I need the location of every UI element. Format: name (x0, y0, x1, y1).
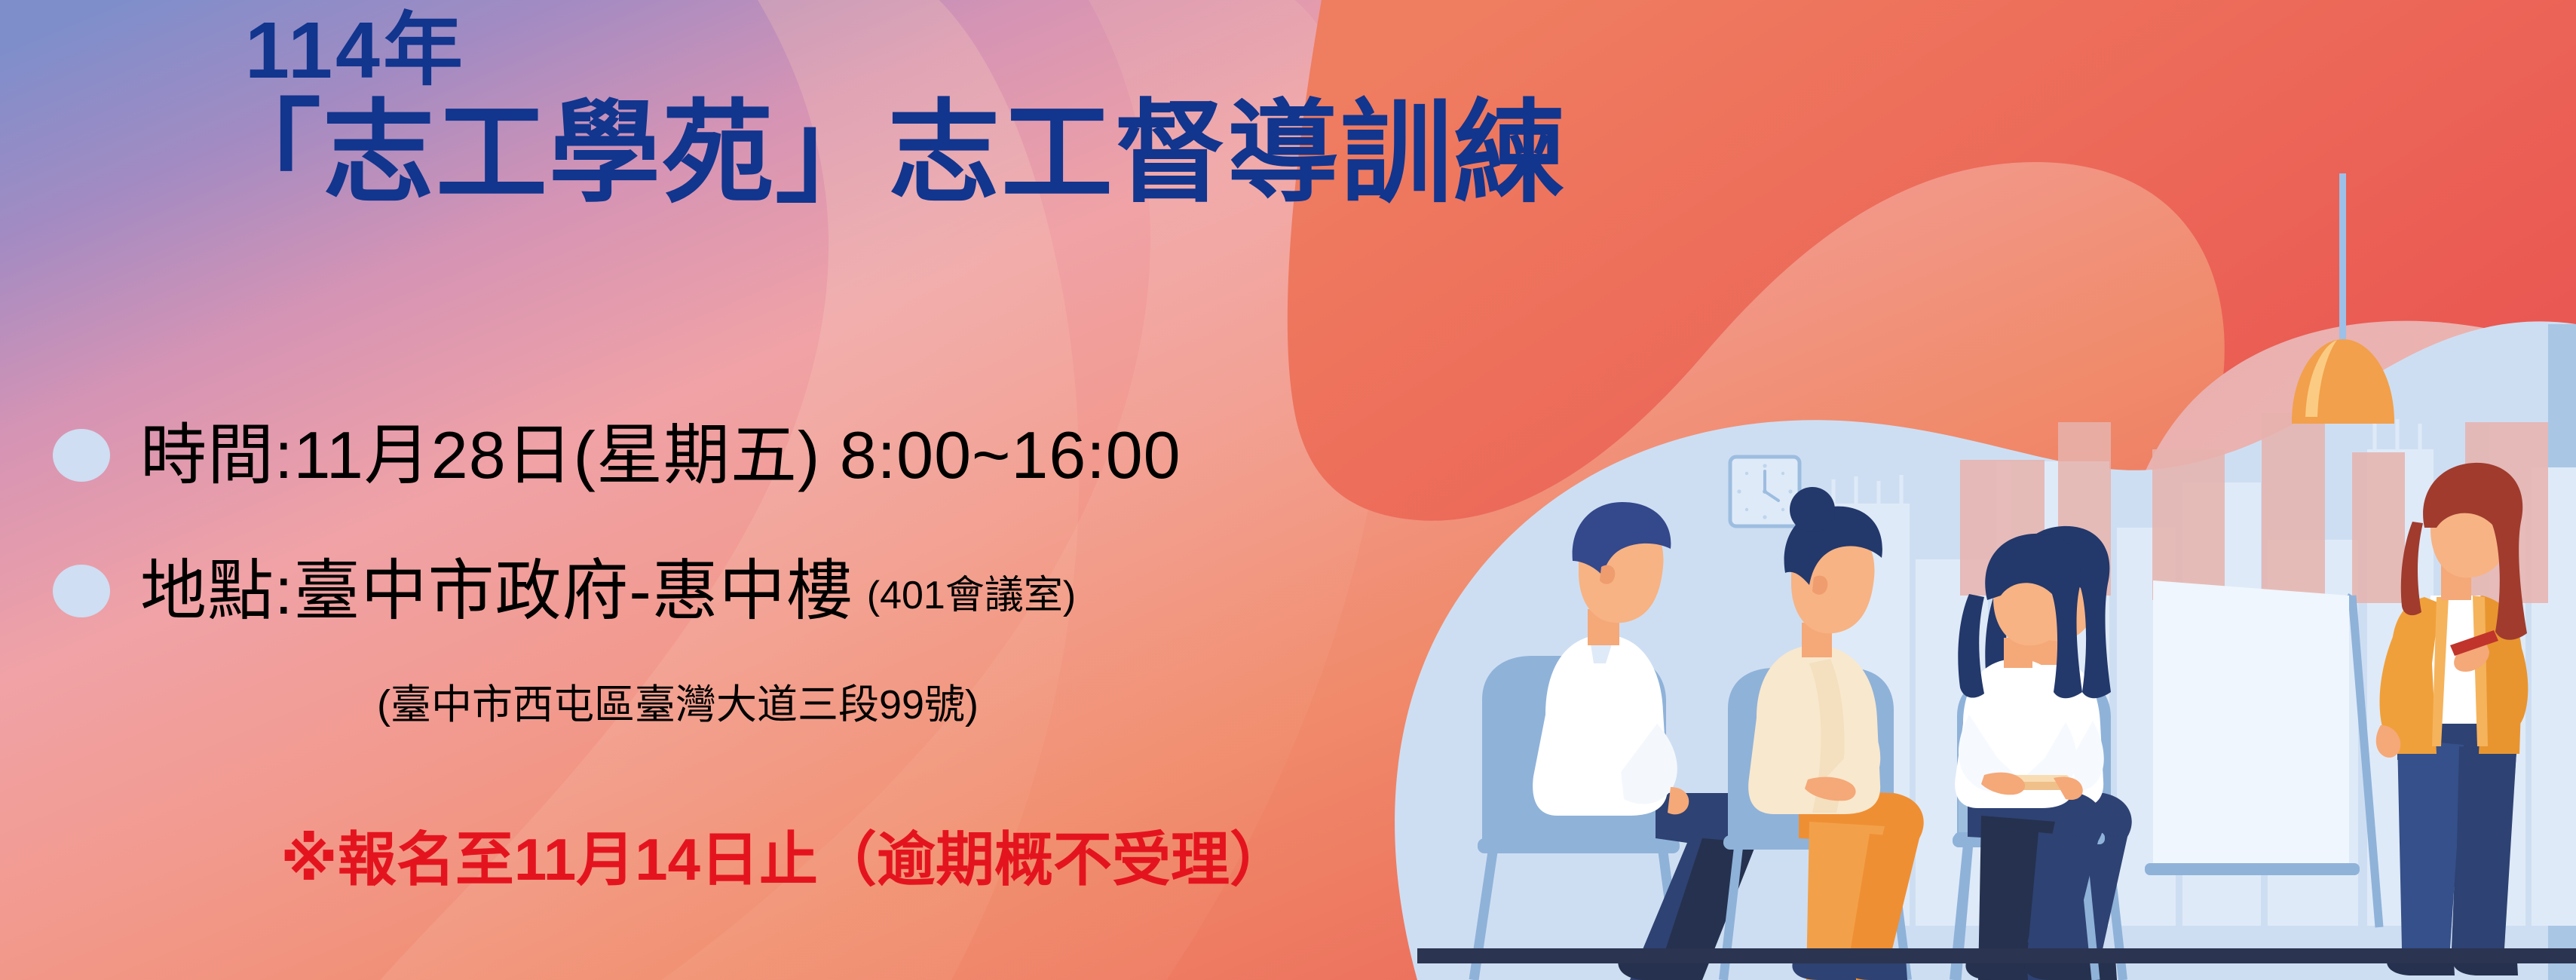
floor-line (1417, 948, 2576, 963)
registration-deadline-notice: ※報名至11月14日止（逾期概不受理） (280, 813, 1288, 897)
info-row-place: 地點:臺中市政府-惠中樓 (401會議室) (53, 558, 1076, 624)
info-place-room: (401會議室) (867, 563, 1076, 620)
wall-clock-icon (1730, 457, 1800, 526)
event-banner: 114年 「志工學苑」志工督導訓練 時間:11月28日(星期五) 8:00~16… (0, 0, 2576, 980)
year-label: 114年 (245, 11, 466, 90)
flipchart-board-icon (2145, 580, 2379, 927)
venue-address: (臺中市西屯區臺灣大道三段99號) (377, 671, 979, 730)
bullet-dot-icon (53, 429, 110, 482)
info-place-label: 地點:臺中市政府-惠中樓 (140, 558, 853, 624)
page-title: 「志工學苑」志工督導訓練 (210, 98, 1567, 210)
info-row-time: 時間:11月28日(星期五) 8:00~16:00 (53, 422, 1181, 488)
banner-text-block: 114年 「志工學苑」志工督導訓練 時間:11月28日(星期五) 8:00~16… (0, 0, 1545, 980)
info-time-label: 時間:11月28日(星期五) 8:00~16:00 (140, 422, 1181, 488)
bullet-dot-icon (53, 565, 110, 617)
